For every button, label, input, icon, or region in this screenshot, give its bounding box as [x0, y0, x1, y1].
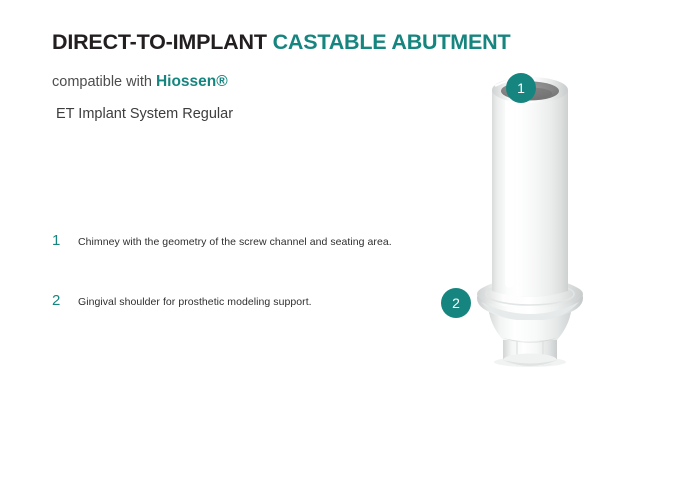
product-image-castable-abutment [455, 60, 605, 380]
feature-description-2: Gingival shoulder for prosthetic modelin… [78, 296, 312, 308]
compatibility-line: compatible with Hiossen® [52, 73, 228, 92]
feature-item-1: 1 Chimney with the geometry of the screw… [52, 232, 392, 249]
title-segment-accent: CASTABLE ABUTMENT [273, 30, 511, 54]
callout-badge-2[interactable]: 2 [441, 288, 471, 318]
feature-number-2: 2 [52, 292, 78, 309]
compatibility-prefix: compatible with [52, 74, 152, 90]
chimney-cylinder [492, 90, 568, 297]
implant-system-line: ET Implant System Regular [56, 106, 233, 123]
feature-number-1: 1 [52, 232, 78, 249]
brand-name: Hiossen® [156, 73, 228, 90]
product-info-page: DIRECT-TO-IMPLANT CASTABLE ABUTMENT comp… [0, 0, 700, 500]
feature-description-1: Chimney with the geometry of the screw c… [78, 236, 392, 248]
page-title: DIRECT-TO-IMPLANT CASTABLE ABUTMENT [52, 31, 510, 55]
cylinder-highlight [505, 94, 514, 288]
title-segment-primary: DIRECT-TO-IMPLANT [52, 30, 267, 54]
abutment-illustration [455, 60, 605, 380]
callout-badge-1[interactable]: 1 [506, 73, 536, 103]
feature-item-2: 2 Gingival shoulder for prosthetic model… [52, 292, 312, 309]
